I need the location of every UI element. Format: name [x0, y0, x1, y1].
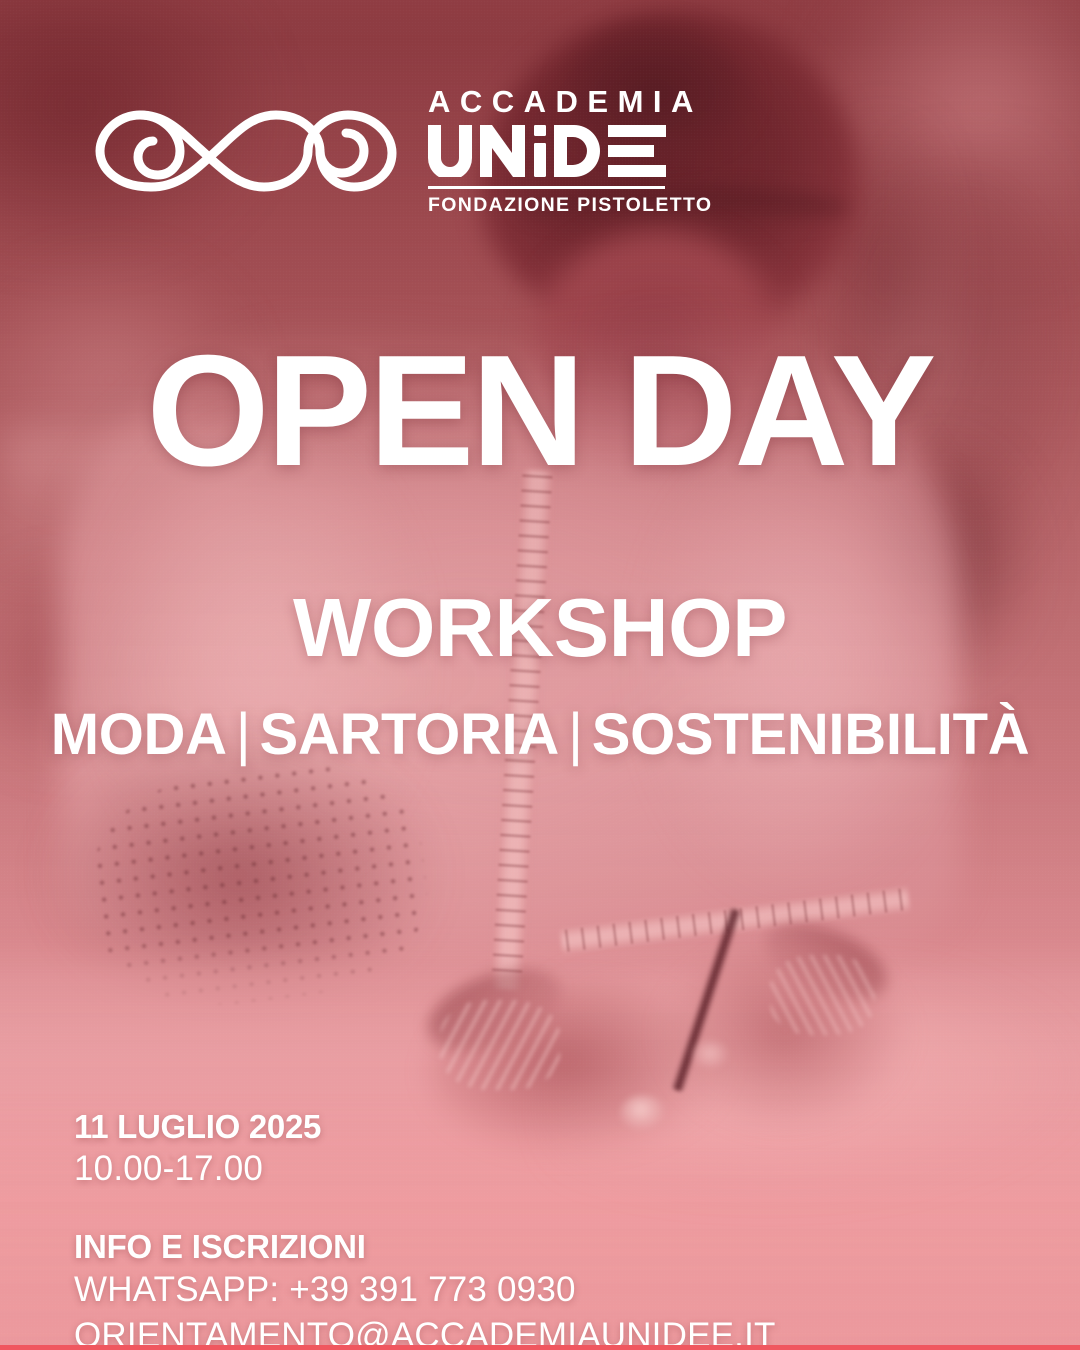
page-title: OPEN DAY: [0, 332, 1080, 490]
logo-lockup: ACCADEMIA: [88, 86, 712, 216]
third-paradise-infinity-icon: [88, 91, 406, 211]
bottom-accent-stripe: [0, 1345, 1080, 1350]
topic-sostenibilita: SOSTENIBILITÀ: [592, 702, 1030, 767]
topic-separator-1: |: [227, 706, 260, 764]
event-time: 10.00-17.00: [74, 1148, 776, 1189]
topics-line: MODA|SARTORIA|SOSTENIBILITÀ: [0, 706, 1080, 764]
topic-separator-2: |: [559, 706, 592, 764]
poster-content: ACCADEMIA: [0, 0, 1080, 1350]
contact-heading: INFO E ISCRIZIONI: [74, 1228, 776, 1266]
logo-divider-rule: [428, 186, 665, 189]
topic-sartoria: SARTORIA: [260, 702, 559, 767]
logo-wordmark: ACCADEMIA: [428, 86, 712, 216]
event-date: 11 LUGLIO 2025: [74, 1108, 776, 1146]
event-info-block: 11 LUGLIO 2025 10.00-17.00 INFO E ISCRIZ…: [74, 1108, 776, 1350]
page-subtitle: WORKSHOP: [0, 586, 1080, 669]
topic-moda: MODA: [51, 702, 227, 767]
logo-fondazione-text: FONDAZIONE PISTOLETTO: [428, 196, 712, 216]
logo-accademia-text: ACCADEMIA: [428, 86, 703, 117]
contact-whatsapp[interactable]: WHATSAPP: +39 391 773 0930: [74, 1269, 776, 1312]
poster: ACCADEMIA: [0, 0, 1080, 1350]
logo-unidee-wordmark: [428, 125, 673, 177]
